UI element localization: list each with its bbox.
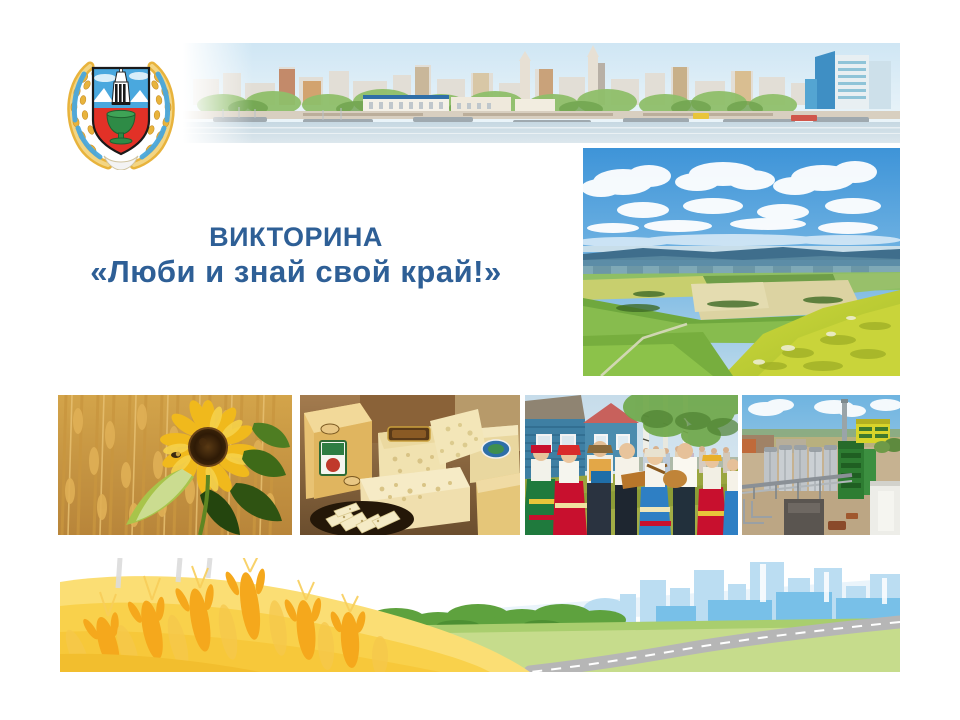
fields-landscape-image	[583, 148, 900, 376]
industrial-plant-image	[742, 395, 900, 535]
sunflower-in-wheat-image	[58, 395, 292, 535]
slide-canvas: ВИКТОРИНА «Люби и знай свой край!»	[0, 0, 960, 720]
cheese-wheels-image	[300, 395, 520, 535]
coat-of-arms-icon	[60, 42, 182, 170]
wheat-field-band	[60, 558, 900, 672]
title-line-2: «Люби и знай свой край!»	[0, 254, 592, 291]
folk-festival-image	[525, 395, 738, 535]
page-title: ВИКТОРИНА «Люби и знай свой край!»	[0, 222, 592, 290]
title-line-1: ВИКТОРИНА	[0, 222, 592, 254]
city-panorama-image	[183, 43, 900, 143]
